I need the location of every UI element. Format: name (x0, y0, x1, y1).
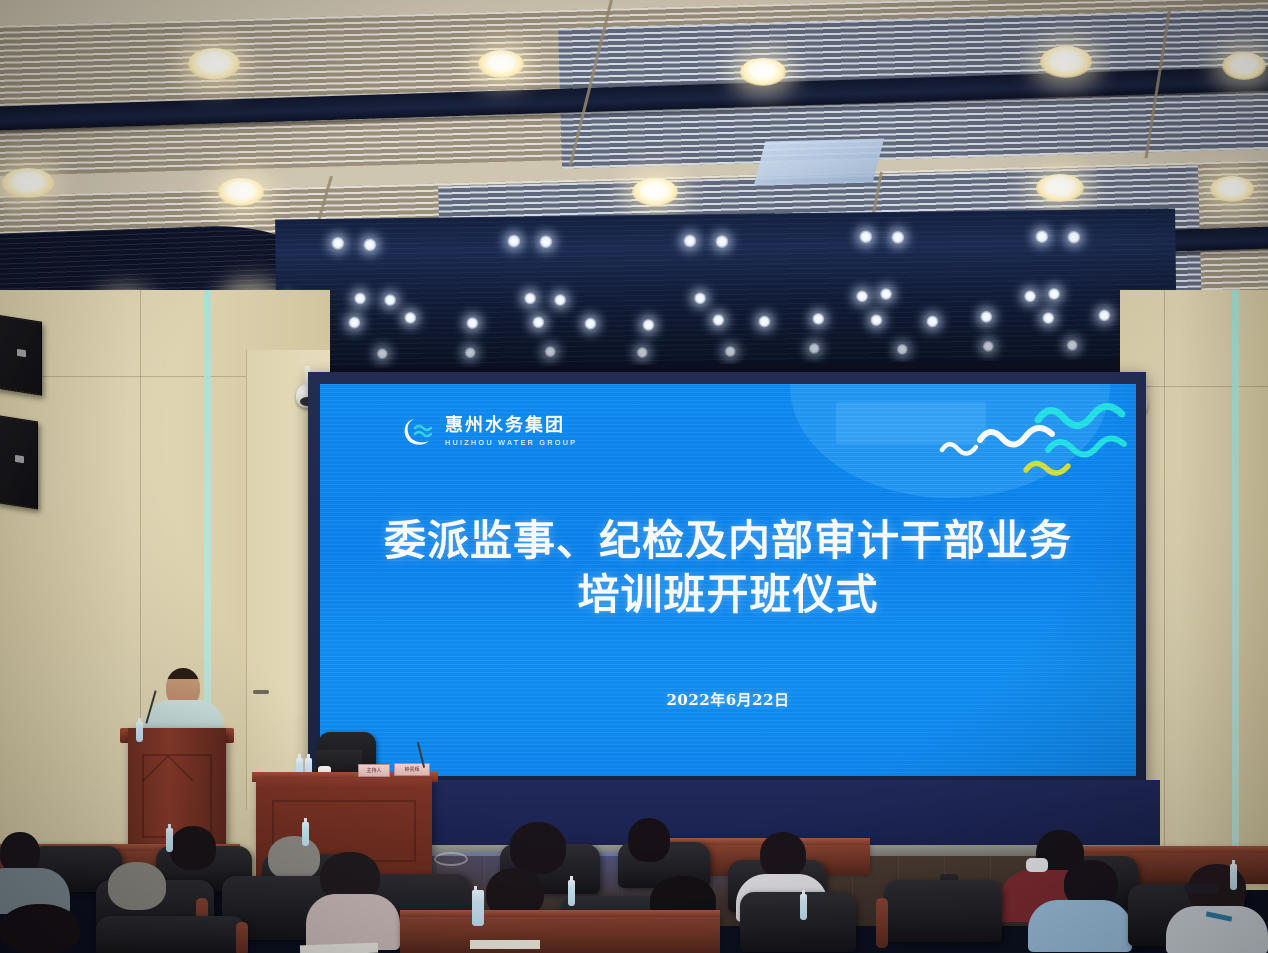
audience-chair (884, 880, 1002, 942)
desk-water-bottle (1230, 864, 1237, 890)
slide-title-line2: 培训班开班仪式 (344, 568, 1112, 622)
jbl-logo-icon (17, 349, 26, 357)
soffit-spotlight (1067, 231, 1080, 244)
soffit-spotlight (809, 343, 820, 354)
led-screen[interactable]: 惠州水务集团 HUIZHOU WATER GROUP 委派监事、纪检及内部审计干… (320, 384, 1136, 776)
soffit-spotlight (384, 294, 396, 306)
attendee-head (760, 832, 806, 878)
soffit-spotlight (354, 292, 366, 304)
soffit-spotlight (1042, 312, 1054, 324)
logo-company-cn: 惠州水务集团 (445, 417, 577, 436)
attendee-shoulders (1028, 900, 1132, 952)
door-handle[interactable] (253, 690, 269, 694)
logo-company-en: HUIZHOU WATER GROUP (445, 438, 577, 447)
soffit-spotlight (363, 238, 376, 251)
audience-chair (96, 916, 246, 953)
soffit-spotlight (331, 237, 344, 250)
soffit-spotlight (891, 231, 904, 244)
soffit-spotlight (466, 317, 478, 329)
soffit-spotlight (554, 294, 566, 306)
wall-speaker-upper (0, 314, 42, 396)
soffit-spotlight (377, 348, 388, 359)
podium-water-bottle (136, 722, 143, 742)
logo-text: 惠州水务集团 HUIZHOU WATER GROUP (445, 417, 577, 447)
slide-title: 委派监事、纪检及内部审计干部业务 培训班开班仪式 (320, 514, 1136, 622)
soffit-spotlight (524, 292, 536, 304)
ceiling-downlight (740, 58, 786, 86)
ceiling-downlight (1036, 174, 1084, 202)
nameplate-left: 主持人 (358, 764, 390, 777)
soffit-spotlight (980, 311, 992, 323)
soffit-spotlight (1098, 309, 1110, 321)
ceiling-downlight (2, 168, 54, 198)
wall-speaker-lower (0, 415, 38, 510)
ceiling-downlight (218, 178, 264, 206)
led-screen-bezel: 惠州水务集团 HUIZHOU WATER GROUP 委派监事、纪检及内部审计干… (308, 372, 1146, 786)
ceiling-downlight (478, 50, 524, 78)
soffit-spotlight (694, 292, 706, 304)
jbl-logo-icon (15, 455, 24, 463)
face-mask (1026, 858, 1048, 872)
audience-chair (740, 892, 856, 952)
chair-armrest (236, 922, 248, 953)
soffit-spotlight (1035, 230, 1048, 243)
desk-water-bottle (800, 894, 807, 920)
soffit-spotlight (1024, 290, 1036, 302)
decorative-waves (920, 394, 1130, 490)
soffit-spotlight (983, 341, 994, 352)
desk-water-bottle (166, 828, 173, 852)
desk-water-bottle (302, 822, 309, 846)
desk-water-bottle (472, 890, 484, 926)
conference-hall-scene: 惠州水务集团 HUIZHOU WATER GROUP 委派监事、纪检及内部审计干… (0, 0, 1268, 953)
chair-armrest (876, 898, 888, 948)
wall-accent-stripe (1232, 290, 1239, 850)
soffit-spotlight (532, 316, 544, 328)
attendee-head (268, 836, 320, 880)
soffit-spotlight (348, 316, 360, 328)
desk-water-bottle (568, 880, 575, 906)
ceiling-downlight (632, 178, 678, 206)
eyeglasses (1184, 884, 1218, 893)
ceiling-downlight (1222, 52, 1266, 80)
desk-paper (300, 943, 378, 953)
soffit-spotlight (715, 235, 728, 248)
attendee-head (170, 826, 216, 870)
attendee-head (628, 818, 670, 862)
ceiling-downlight (1210, 176, 1254, 202)
soffit-spotlight (712, 314, 724, 326)
soffit-spotlight (637, 347, 648, 358)
soffit-spotlight (404, 312, 416, 324)
soffit-spotlight (725, 346, 736, 357)
audience-desk-top (400, 910, 720, 917)
soffit-spotlight (859, 230, 872, 243)
soffit-spotlight (812, 313, 824, 325)
soffit-spotlight (584, 318, 596, 330)
attendee-head (0, 904, 80, 953)
attendee-head (510, 822, 566, 874)
wall-seam (1164, 290, 1165, 890)
soffit-spotlight (897, 344, 908, 355)
huizhou-water-group-logo: 惠州水务集团 HUIZHOU WATER GROUP (402, 417, 577, 447)
slide-date: 2022年6月22日 (320, 689, 1136, 710)
attendee-shoulders (306, 894, 400, 950)
soffit-spotlight (1067, 340, 1078, 351)
soffit-spotlight (1048, 288, 1060, 300)
ceiling-vent-panel (754, 138, 884, 185)
soffit-spotlight (539, 235, 552, 248)
stage-soffit (275, 209, 1177, 370)
soffit-spotlight (465, 347, 476, 358)
soffit-spotlight (926, 315, 938, 327)
audience-desk (400, 914, 720, 953)
soffit-spotlight (642, 319, 654, 331)
soffit-spotlight (545, 346, 556, 357)
desk-paper (470, 940, 540, 949)
ceiling-downlight (188, 48, 240, 80)
slide-title-line1: 委派监事、纪检及内部审计干部业务 (344, 514, 1112, 568)
soffit-spotlight (870, 314, 882, 326)
audience-area (0, 818, 1268, 953)
soffit-spotlight (507, 235, 520, 248)
water-drop-wave-logo-icon (402, 417, 436, 447)
soffit-spotlight (880, 288, 892, 300)
ceiling-downlight (1040, 46, 1092, 78)
attendee-head (108, 862, 166, 910)
soffit-spotlight (683, 234, 696, 247)
soffit-spotlight (856, 290, 868, 302)
soffit-spotlight (758, 315, 770, 327)
